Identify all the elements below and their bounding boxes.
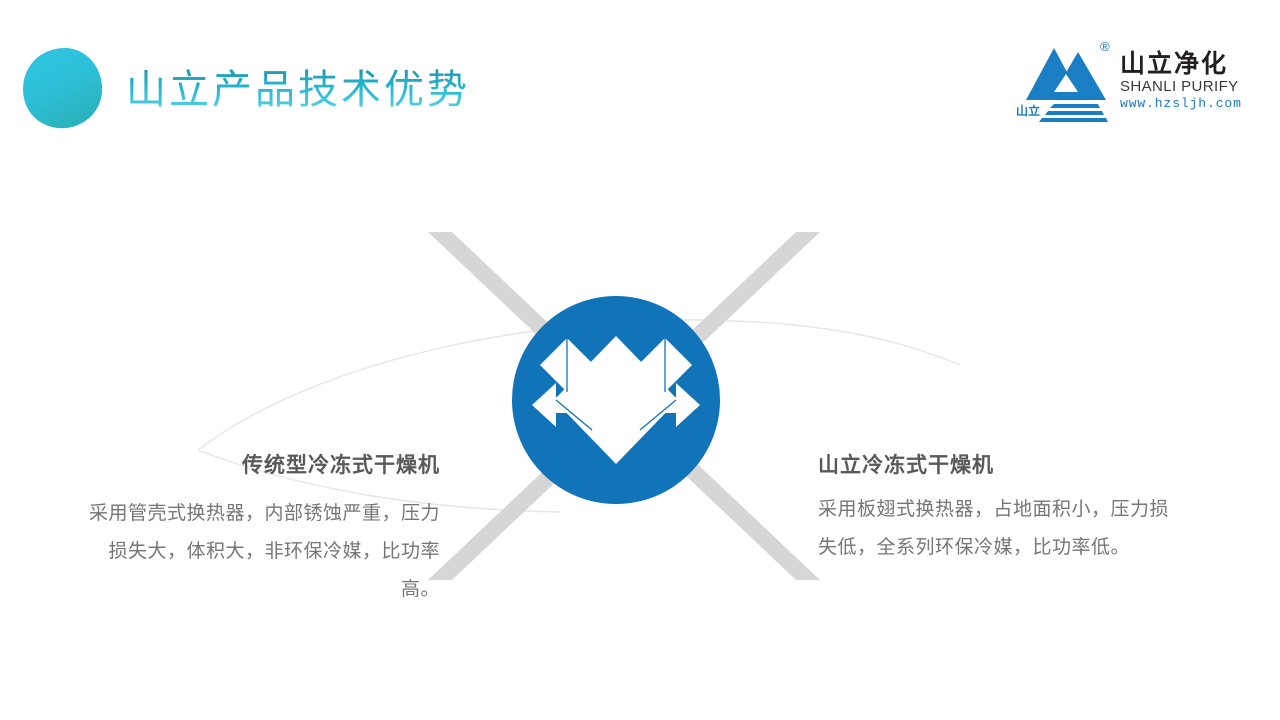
left-body: 采用管壳式换热器，内部锈蚀严重，压力损失大，体积大，非环保冷媒，比功率高。 <box>88 494 440 608</box>
logo-website: www.hzsljh.com <box>1120 96 1244 112</box>
registered-trademark-icon: ® <box>1100 39 1110 54</box>
left-heading: 传统型冷冻式干燥机 <box>88 450 440 480</box>
comparison-block-right: 山立冷冻式干燥机 采用板翅式换热器，占地面积小，压力损失低，全系列环保冷媒，比功… <box>818 450 1170 566</box>
slide-canvas: 山立产品技术优势 山立 ® 山立 <box>0 0 1280 720</box>
organic-blob-icon <box>18 46 106 130</box>
page-title: 山立产品技术优势 <box>126 64 470 116</box>
logo-mark-caption: 山立 <box>1016 102 1040 119</box>
logo-company-cn: 山立净化 <box>1120 50 1244 78</box>
comparison-block-left: 传统型冷冻式干燥机 采用管壳式换热器，内部锈蚀严重，压力损失大，体积大，非环保冷… <box>88 450 440 608</box>
company-logo: 山立 ® 山立净化 SHANLI PURIFY www.hzsljh.com <box>1020 36 1242 130</box>
comparison-diagram: 传统型冷冻式干燥机 采用管壳式换热器，内部锈蚀严重，压力损失大，体积大，非环保冷… <box>0 150 1280 720</box>
right-heading: 山立冷冻式干燥机 <box>818 450 1170 480</box>
logo-company-en: SHANLI PURIFY <box>1120 78 1244 96</box>
slide-header: 山立产品技术优势 山立 ® 山立 <box>0 0 1280 150</box>
right-body: 采用板翅式换热器，占地面积小，压力损失低，全系列环保冷媒，比功率低。 <box>818 490 1170 566</box>
diagram-graphics <box>0 150 1280 720</box>
logo-wordmark: 山立净化 SHANLI PURIFY www.hzsljh.com <box>1120 50 1244 112</box>
